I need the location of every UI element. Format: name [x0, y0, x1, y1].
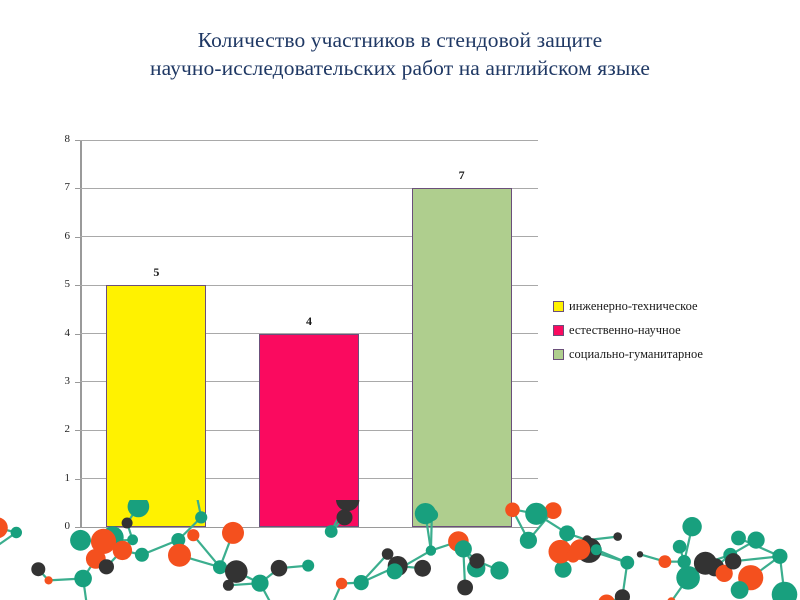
legend-item-3[interactable]: социально-гуманитарное [553, 342, 753, 366]
y-tick-label: 7 [42, 182, 70, 193]
legend-swatch-icon [553, 301, 564, 312]
legend-item-label: социально-гуманитарное [569, 348, 703, 361]
legend-swatch-icon [553, 349, 564, 360]
bar-value-label: 5 [136, 265, 176, 280]
y-tick-label: 0 [42, 521, 70, 532]
y-tick-label: 5 [42, 279, 70, 290]
y-tick-label: 1 [42, 473, 70, 484]
legend-item-2[interactable]: естественно-научное [553, 318, 753, 342]
slide-canvas: Количество участников в стендовой защите… [0, 0, 800, 600]
y-axis-line [80, 140, 82, 528]
y-tick-label: 4 [42, 328, 70, 339]
bar-2[interactable] [259, 334, 359, 528]
y-tick-label: 3 [42, 376, 70, 387]
bar-value-label: 4 [289, 314, 329, 329]
y-tick-mark-8 [75, 140, 80, 141]
gridline-8 [80, 140, 538, 141]
y-tick-mark-6 [75, 237, 80, 238]
y-tick-mark-4 [75, 334, 80, 335]
chart-legend: инженерно-техническоеестественно-научное… [553, 294, 753, 366]
y-tick-mark-2 [75, 430, 80, 431]
y-tick-mark-3 [75, 382, 80, 383]
y-tick-mark-7 [75, 188, 80, 189]
y-tick-label: 2 [42, 424, 70, 435]
y-tick-mark-5 [75, 285, 80, 286]
legend-item-1[interactable]: инженерно-техническое [553, 294, 753, 318]
y-tick-label: 6 [42, 231, 70, 242]
bar-3[interactable] [412, 188, 512, 527]
legend-item-label: естественно-научное [569, 324, 681, 337]
bar-value-label: 7 [442, 168, 482, 183]
bar-1[interactable] [106, 285, 206, 527]
y-tick-mark-1 [75, 479, 80, 480]
legend-item-label: инженерно-техническое [569, 300, 698, 313]
legend-swatch-icon [553, 325, 564, 336]
bar-chart: 012345678 547 инженерно-техническоеестес… [0, 0, 800, 600]
y-tick-label: 8 [42, 134, 70, 145]
y-tick-mark-0 [75, 527, 80, 528]
